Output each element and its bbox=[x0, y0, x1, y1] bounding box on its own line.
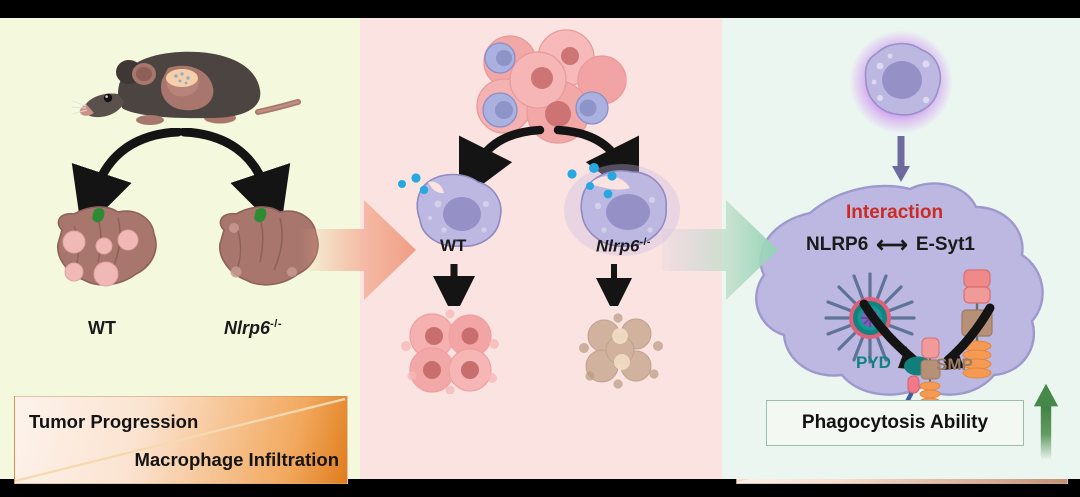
liver-wt bbox=[44, 200, 164, 296]
transition-arrow-2 bbox=[662, 198, 780, 302]
protein-label-nlrp6: NLRP6 bbox=[806, 234, 868, 256]
panel1-gradient-bar: Tumor Progression Macrophage Infiltratio… bbox=[14, 396, 348, 484]
down-arrows-panel2 bbox=[420, 262, 670, 306]
tumor-dying bbox=[574, 312, 670, 390]
macrophage-glowing bbox=[846, 28, 956, 136]
panel2-label-knockout-gene: Nlrp6 bbox=[596, 237, 639, 256]
protein-interaction-row: NLRP6 ⟷ E-Syt1 bbox=[806, 234, 975, 256]
protein-label-esyt1: E-Syt1 bbox=[916, 234, 975, 256]
domain-label-pyd: PYD bbox=[856, 353, 891, 373]
panel1-label-knockout-gene: Nlrp6 bbox=[224, 318, 270, 338]
graphical-abstract-figure: WT Nlrp6-/- Tumor Progression Macrophage… bbox=[0, 0, 1080, 497]
transition-arrow-1 bbox=[300, 198, 418, 302]
interaction-title: Interaction bbox=[846, 202, 943, 224]
phagocytosis-ability-box: Phagocytosis Ability bbox=[766, 400, 1024, 446]
panel1-label-knockout-superscript: -/- bbox=[270, 318, 282, 330]
mouse-illustration bbox=[72, 34, 302, 139]
panel2-label-knockout: Nlrp6-/- bbox=[596, 236, 651, 257]
domain-label-smp: SMP bbox=[936, 355, 973, 375]
panel2-label-wt: WT bbox=[440, 236, 466, 256]
double-arrow-icon: ⟷ bbox=[876, 234, 908, 256]
panel1-label-wt: WT bbox=[88, 318, 116, 339]
panel1-label-knockout: Nlrp6-/- bbox=[224, 318, 282, 339]
phagocytosis-ability-label: Phagocytosis Ability bbox=[802, 412, 988, 434]
tumor-growing bbox=[398, 308, 508, 394]
panel1-bar-bottom-label: Macrophage Infiltration bbox=[134, 449, 339, 471]
increase-arrow-icon bbox=[1030, 382, 1062, 462]
panel2-label-knockout-superscript: -/- bbox=[639, 236, 650, 248]
panel1-bar-top-label: Tumor Progression bbox=[29, 411, 198, 433]
